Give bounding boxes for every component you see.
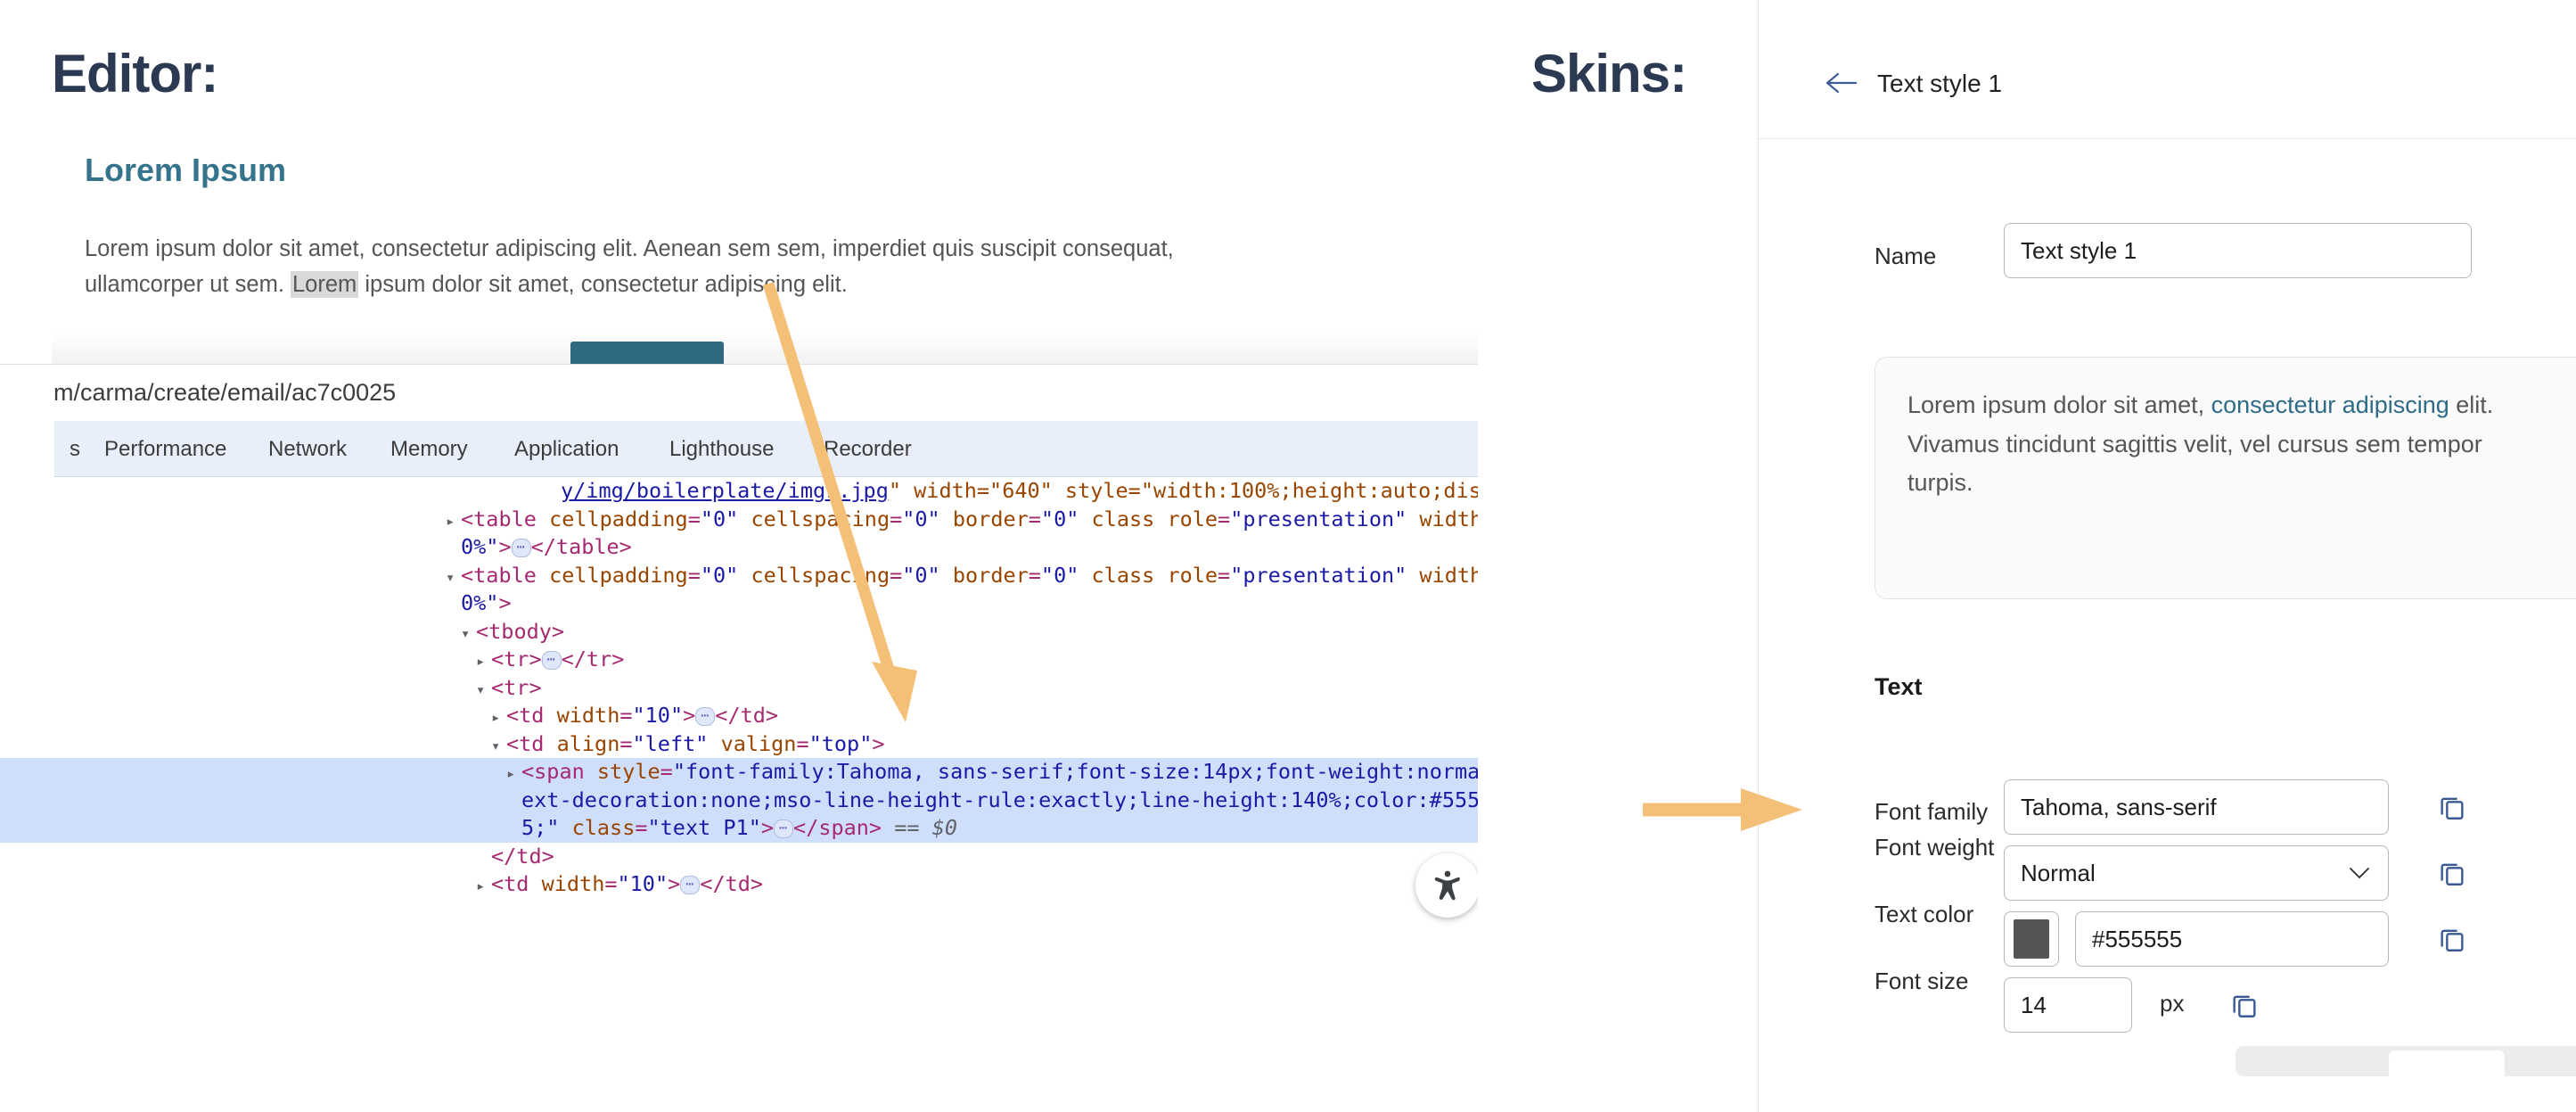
text-color-swatch-fill (2014, 919, 2049, 959)
devtools-tab-lighthouse[interactable]: Lighthouse (669, 437, 774, 462)
skins-panel: Text style 1 Name Lorem ipsum dolor sit … (1758, 0, 2576, 1112)
collapsed-children-badge[interactable]: ⋯ (695, 707, 715, 726)
devtools-tab-memory[interactable]: Memory (390, 437, 468, 462)
devtools-tab-performance[interactable]: Performance (104, 437, 226, 462)
dom-row[interactable]: ▸<table cellpadding="0" cellspacing="0" … (0, 506, 1478, 534)
collapsed-children-badge[interactable]: ⋯ (542, 651, 562, 670)
copy-glyph (2437, 792, 2467, 822)
expand-triangle-icon[interactable]: ▸ (476, 873, 491, 902)
browser-url-text[interactable]: m/carma/create/email/ac7c0025 (53, 379, 396, 407)
email-body-text-part2: ipsum dolor sit amet, consectetur adipis… (358, 272, 848, 297)
collapsed-children-badge[interactable]: ⋯ (680, 876, 700, 894)
font-weight-select[interactable]: Normal (2004, 845, 2389, 901)
dom-row-selected[interactable]: 5;" class="text P1">⋯</span> == $0 (0, 814, 1478, 843)
style-preview-card: Lorem ipsum dolor sit amet, consectetur … (1875, 357, 2576, 599)
arrow-left-glyph (1819, 70, 1860, 96)
collapse-triangle-icon[interactable]: ▾ (461, 621, 476, 649)
text-color-label-wrap: Text color (1875, 901, 1973, 928)
dom-row[interactable]: y/img/boilerplate/img1.jpg" width="640" … (0, 477, 1478, 506)
font-size-input[interactable] (2004, 977, 2132, 1033)
devtools-url-bar: m/carma/create/email/ac7c0025 (0, 365, 1478, 421)
font-weight-label: Font weight (1875, 834, 1994, 861)
back-arrow-icon[interactable] (1819, 70, 1860, 96)
copy-glyph (2437, 924, 2467, 954)
expand-triangle-icon[interactable]: ▸ (491, 704, 506, 733)
name-field-label: Name (1875, 243, 1936, 269)
email-preview-body[interactable]: Lorem ipsum dolor sit amet, consectetur … (85, 232, 1199, 303)
dom-row[interactable]: ▸<td width="10">⋯</td> (0, 870, 1478, 899)
devtools-dom-tree[interactable]: y/img/boilerplate/img1.jpg" width="640" … (0, 477, 1478, 1112)
dom-row[interactable]: </td> (0, 843, 1478, 871)
expand-triangle-icon[interactable]: ▸ (446, 508, 461, 537)
font-family-label: Font family (1875, 798, 1988, 825)
collapse-triangle-icon[interactable]: ▾ (476, 677, 491, 705)
dom-row-selected[interactable]: ext-decoration:none;mso-line-height-rule… (0, 787, 1478, 815)
dom-row[interactable]: ▸<td width="10">⋯</td> (0, 702, 1478, 730)
devtools-tab-recorder[interactable]: Recorder (824, 437, 912, 462)
font-size-label-wrap: Font size (1875, 968, 1969, 995)
skins-panel-title: Text style 1 (1877, 70, 2002, 98)
dom-row[interactable]: ▾<table cellpadding="0" cellspacing="0" … (0, 562, 1478, 590)
devtools-tab-application[interactable]: Application (514, 437, 619, 462)
devtools-tab-network[interactable]: Network (268, 437, 347, 462)
font-size-unit-label: px (2160, 990, 2184, 1017)
preview-text-before: Lorem ipsum dolor sit amet, (1907, 391, 2211, 418)
collapse-triangle-icon[interactable]: ▾ (491, 733, 506, 762)
font-family-copy-icon[interactable] (2437, 792, 2467, 827)
collapse-triangle-icon[interactable]: ▾ (446, 564, 461, 593)
dom-row[interactable]: 0%"> (0, 589, 1478, 618)
segmented-control-partial[interactable] (2236, 1046, 2576, 1076)
skins-annotation-label: Skins: (1531, 43, 1686, 104)
devtools-tab-bar: s Performance Network Memory Application… (54, 421, 1478, 477)
collapsed-children-badge[interactable]: ⋯ (512, 539, 531, 557)
text-color-input[interactable] (2075, 911, 2389, 967)
editor-annotation-label: Editor: (52, 43, 217, 104)
font-weight-copy-icon[interactable] (2437, 858, 2467, 893)
dom-row[interactable]: ▾<tr> (0, 674, 1478, 703)
expand-triangle-icon[interactable]: ▸ (506, 761, 521, 789)
name-input[interactable] (2004, 223, 2472, 278)
accessibility-icon[interactable] (1415, 853, 1478, 918)
dom-img-attrs: " width="640" style="width:100%;height:a… (889, 478, 1478, 503)
email-preview-canvas: Lorem Ipsum Lorem ipsum dolor sit amet, … (52, 134, 1478, 357)
dom-row-selected[interactable]: ▸<span style="font-family:Tahoma, sans-s… (0, 758, 1478, 787)
copy-glyph (2229, 990, 2260, 1020)
text-color-swatch[interactable] (2004, 911, 2059, 967)
email-body-highlighted-word[interactable]: Lorem (291, 271, 358, 298)
skins-panel-header: Text style 1 (1759, 0, 2576, 139)
devtools-window: m/carma/create/email/ac7c0025 s Performa… (0, 365, 1478, 1112)
expand-triangle-icon[interactable]: ▸ (476, 648, 491, 677)
text-color-label: Text color (1875, 901, 1973, 927)
email-preview-heading: Lorem Ipsum (85, 152, 286, 189)
style-preview-text: Lorem ipsum dolor sit amet, consectetur … (1907, 386, 2549, 503)
font-weight-value: Normal (2021, 860, 2096, 887)
chevron-down-icon (2347, 865, 2372, 881)
accessibility-glyph (1430, 868, 1465, 903)
name-field-label-wrap: Name (1875, 243, 1936, 270)
dom-row[interactable]: ▸<tr>⋯</tr> (0, 646, 1478, 674)
text-section-heading: Text (1875, 673, 1923, 701)
editor-pane: Editor: Lorem Ipsum Lorem ipsum dolor si… (0, 0, 1760, 1112)
dom-row[interactable]: ▾<tbody> (0, 618, 1478, 647)
devtools-tab-sources[interactable]: s (70, 437, 80, 462)
dom-img-src-link[interactable]: y/img/boilerplate/img1.jpg (561, 478, 889, 503)
console-selection-ref: == $0 (894, 815, 957, 840)
dom-row[interactable]: ▾<td align="left" valign="top"> (0, 730, 1478, 759)
collapsed-children-badge[interactable]: ⋯ (774, 820, 793, 838)
font-family-input[interactable] (2004, 779, 2389, 835)
font-size-copy-icon[interactable] (2229, 990, 2260, 1025)
copy-glyph (2437, 858, 2467, 888)
segmented-control-active-segment[interactable] (2389, 1050, 2505, 1086)
text-color-copy-icon[interactable] (2437, 924, 2467, 959)
dom-row[interactable]: 0%">⋯</table> (0, 533, 1478, 562)
font-size-label: Font size (1875, 968, 1969, 994)
font-family-label-wrap: Font family (1875, 798, 1988, 826)
preview-link[interactable]: consectetur adipiscing (2211, 391, 2449, 418)
